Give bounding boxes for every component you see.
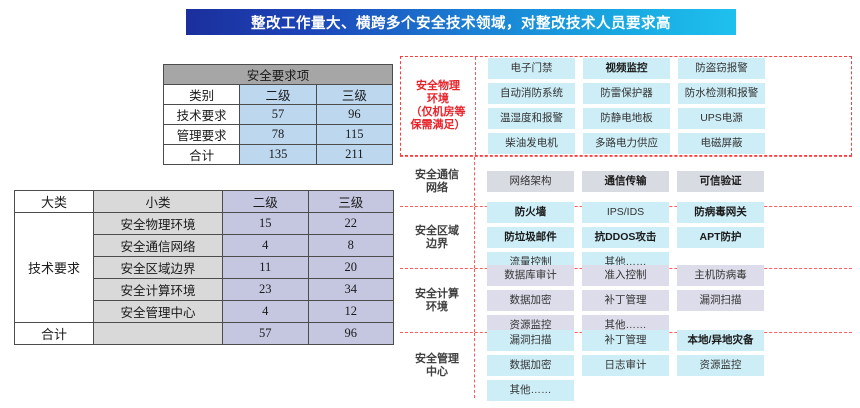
cat-total-sub xyxy=(94,323,223,345)
control-chip[interactable]: 防火墙 xyxy=(487,202,574,223)
control-chip[interactable]: 网络架构 xyxy=(487,171,574,192)
cat-row-level2: 23 xyxy=(223,279,309,301)
cat-col-level2: 二级 xyxy=(223,191,309,213)
req-col-category: 类别 xyxy=(164,85,240,105)
control-chip[interactable]: 准入控制 xyxy=(582,265,669,286)
table-row-total: 合计 135 211 xyxy=(164,145,393,165)
section-physical: 安全物理环境（仅机房等保需满足）电子门禁视频监控防盗窃报警自动消防系统防雷保护器… xyxy=(400,56,852,156)
control-chip[interactable]: 防静电地板 xyxy=(583,108,670,129)
table-row-header: 大类 小类 二级 三级 xyxy=(15,191,394,213)
cat-row-sub: 安全物理环境 xyxy=(94,213,223,235)
control-chip[interactable]: 日志审计 xyxy=(582,355,669,376)
table-row-header: 类别 二级 三级 xyxy=(164,85,393,105)
section-items-communication: 网络架构通信传输可信验证 xyxy=(475,164,852,199)
cat-table-body: 大类 小类 二级 三级 技术要求 安全物理环境 15 22 安全通信网络 4 8… xyxy=(15,191,394,345)
section-label-line: 安全物理 xyxy=(402,80,474,93)
control-chip[interactable]: 抗DDOS攻击 xyxy=(582,227,669,248)
chip-label-part: 本地/ xyxy=(688,335,712,346)
chip-label-part: IDS xyxy=(627,207,645,218)
section-label-line: 边界 xyxy=(401,238,473,251)
section-items-physical: 电子门禁视频监控防盗窃报警自动消防系统防雷保护器防水检测和报警温湿度和报警防静电… xyxy=(476,51,851,161)
req-col-level2: 二级 xyxy=(240,85,316,105)
cat-row-level3: 22 xyxy=(308,213,394,235)
page-title-banner: 整改工作量大、横跨多个安全技术领域，对整改技术人员要求高 xyxy=(186,9,736,35)
control-chip[interactable]: 防病毒网关 xyxy=(677,202,764,223)
section-items-management: 漏洞扫描补丁管理本地/异地灾备数据加密日志审计资源监控其他…… xyxy=(475,323,852,408)
table-row: 技术要求 57 96 xyxy=(164,105,393,125)
control-chip[interactable]: 可信验证 xyxy=(677,171,764,192)
security-domains-panel: 安全物理环境（仅机房等保需满足）电子门禁视频监控防盗窃报警自动消防系统防雷保护器… xyxy=(400,56,852,401)
security-requirements-table: 安全要求项 类别 二级 三级 技术要求 57 96 管理要求 78 115 合计… xyxy=(163,64,393,165)
cat-row-level3: 12 xyxy=(308,301,394,323)
section-label-line: 网络 xyxy=(401,182,473,195)
cat-total-level2: 57 xyxy=(223,323,309,345)
req-col-level3: 三级 xyxy=(316,85,392,105)
req-row-label: 技术要求 xyxy=(164,105,240,125)
control-chip[interactable]: 补丁管理 xyxy=(582,290,669,311)
cat-col-major: 大类 xyxy=(15,191,94,213)
table-row-header-title: 安全要求项 xyxy=(164,65,393,85)
section-label-line: 中心 xyxy=(401,366,473,379)
section-label-computing: 安全计算环境 xyxy=(400,286,474,316)
cat-group-label: 技术要求 xyxy=(15,213,94,323)
section-label-line: （仅机房等 xyxy=(402,106,474,119)
section-label-communication: 安全通信网络 xyxy=(400,167,474,197)
cat-row-level2: 11 xyxy=(223,257,309,279)
control-chip[interactable]: 电子门禁 xyxy=(488,58,575,79)
control-chip[interactable]: 防雷保护器 xyxy=(583,83,670,104)
chip-label-part: 异地灾备 xyxy=(711,335,753,346)
cat-row-sub: 安全计算环境 xyxy=(94,279,223,301)
control-chip[interactable]: 主机防病毒 xyxy=(677,265,764,286)
req-row-label: 管理要求 xyxy=(164,125,240,145)
control-chip[interactable]: APT防护 xyxy=(677,227,764,248)
section-label-line: 安全区域 xyxy=(401,225,473,238)
section-label-line: 环境 xyxy=(401,301,473,314)
control-chip[interactable]: 本地/异地灾备 xyxy=(677,330,764,351)
control-chip[interactable]: 防垃圾邮件 xyxy=(487,227,574,248)
section-label-line: 安全管理 xyxy=(401,353,473,366)
control-chip[interactable]: 温湿度和报警 xyxy=(488,108,575,129)
cat-row-sub: 安全区域边界 xyxy=(94,257,223,279)
req-row-label: 合计 xyxy=(164,145,240,165)
control-chip[interactable]: 数据加密 xyxy=(487,290,574,311)
req-row-level3: 211 xyxy=(316,145,392,165)
section-label-line: 安全计算 xyxy=(401,288,473,301)
control-chip[interactable]: 防水检测和报警 xyxy=(678,83,765,104)
section-label-line: 安全通信 xyxy=(401,169,473,182)
section-label-management: 安全管理中心 xyxy=(400,351,474,381)
control-chip[interactable]: 漏洞扫描 xyxy=(677,290,764,311)
section-label-line: 保需满足） xyxy=(402,119,474,132)
control-chip[interactable]: 电磁屏蔽 xyxy=(678,133,765,154)
cat-row-level2: 4 xyxy=(223,301,309,323)
control-chip[interactable]: 柴油发电机 xyxy=(488,133,575,154)
cat-total-level3: 96 xyxy=(308,323,394,345)
cat-col-minor: 小类 xyxy=(94,191,223,213)
control-chip[interactable]: 补丁管理 xyxy=(582,330,669,351)
control-chip[interactable]: 其他…… xyxy=(487,380,574,401)
cat-row-sub: 安全管理中心 xyxy=(94,301,223,323)
control-chip[interactable]: 多路电力供应 xyxy=(583,133,670,154)
section-label-line: 环境 xyxy=(402,93,474,106)
control-chip[interactable]: 漏洞扫描 xyxy=(487,330,574,351)
control-chip[interactable]: 通信传输 xyxy=(582,171,669,192)
table-row: 技术要求 安全物理环境 15 22 xyxy=(15,213,394,235)
control-chip[interactable]: 视频监控 xyxy=(583,58,670,79)
req-table-body: 安全要求项 类别 二级 三级 技术要求 57 96 管理要求 78 115 合计… xyxy=(164,65,393,165)
cat-row-sub: 安全通信网络 xyxy=(94,235,223,257)
control-chip[interactable]: 防盗窃报警 xyxy=(678,58,765,79)
control-chip[interactable]: 自动消防系统 xyxy=(488,83,575,104)
section-label-boundary: 安全区域边界 xyxy=(400,223,474,253)
req-row-level2: 135 xyxy=(240,145,316,165)
control-chip[interactable]: UPS电源 xyxy=(678,108,765,129)
page-title: 整改工作量大、横跨多个安全技术领域，对整改技术人员要求高 xyxy=(251,12,671,33)
cat-total-label: 合计 xyxy=(15,323,94,345)
section-label-physical: 安全物理环境（仅机房等保需满足） xyxy=(401,78,475,134)
req-table-title: 安全要求项 xyxy=(164,65,393,85)
table-row: 管理要求 78 115 xyxy=(164,125,393,145)
table-row-total: 合计 57 96 xyxy=(15,323,394,345)
category-breakdown-table: 大类 小类 二级 三级 技术要求 安全物理环境 15 22 安全通信网络 4 8… xyxy=(14,190,394,345)
cat-row-level2: 15 xyxy=(223,213,309,235)
req-row-level3: 115 xyxy=(316,125,392,145)
req-row-level3: 96 xyxy=(316,105,392,125)
cat-row-level3: 34 xyxy=(308,279,394,301)
chip-label-part: IPS/ xyxy=(607,207,627,218)
control-chip[interactable]: 资源监控 xyxy=(677,355,764,376)
req-row-level2: 57 xyxy=(240,105,316,125)
section-management: 安全管理中心漏洞扫描补丁管理本地/异地灾备数据加密日志审计资源监控其他…… xyxy=(400,332,852,398)
control-chip[interactable]: 数据加密 xyxy=(487,355,574,376)
cat-row-level3: 8 xyxy=(308,235,394,257)
cat-row-level2: 4 xyxy=(223,235,309,257)
control-chip[interactable]: IPS/IDS xyxy=(582,202,669,223)
control-chip[interactable]: 数据库审计 xyxy=(487,265,574,286)
cat-row-level3: 20 xyxy=(308,257,394,279)
cat-col-level3: 三级 xyxy=(308,191,394,213)
req-row-level2: 78 xyxy=(240,125,316,145)
